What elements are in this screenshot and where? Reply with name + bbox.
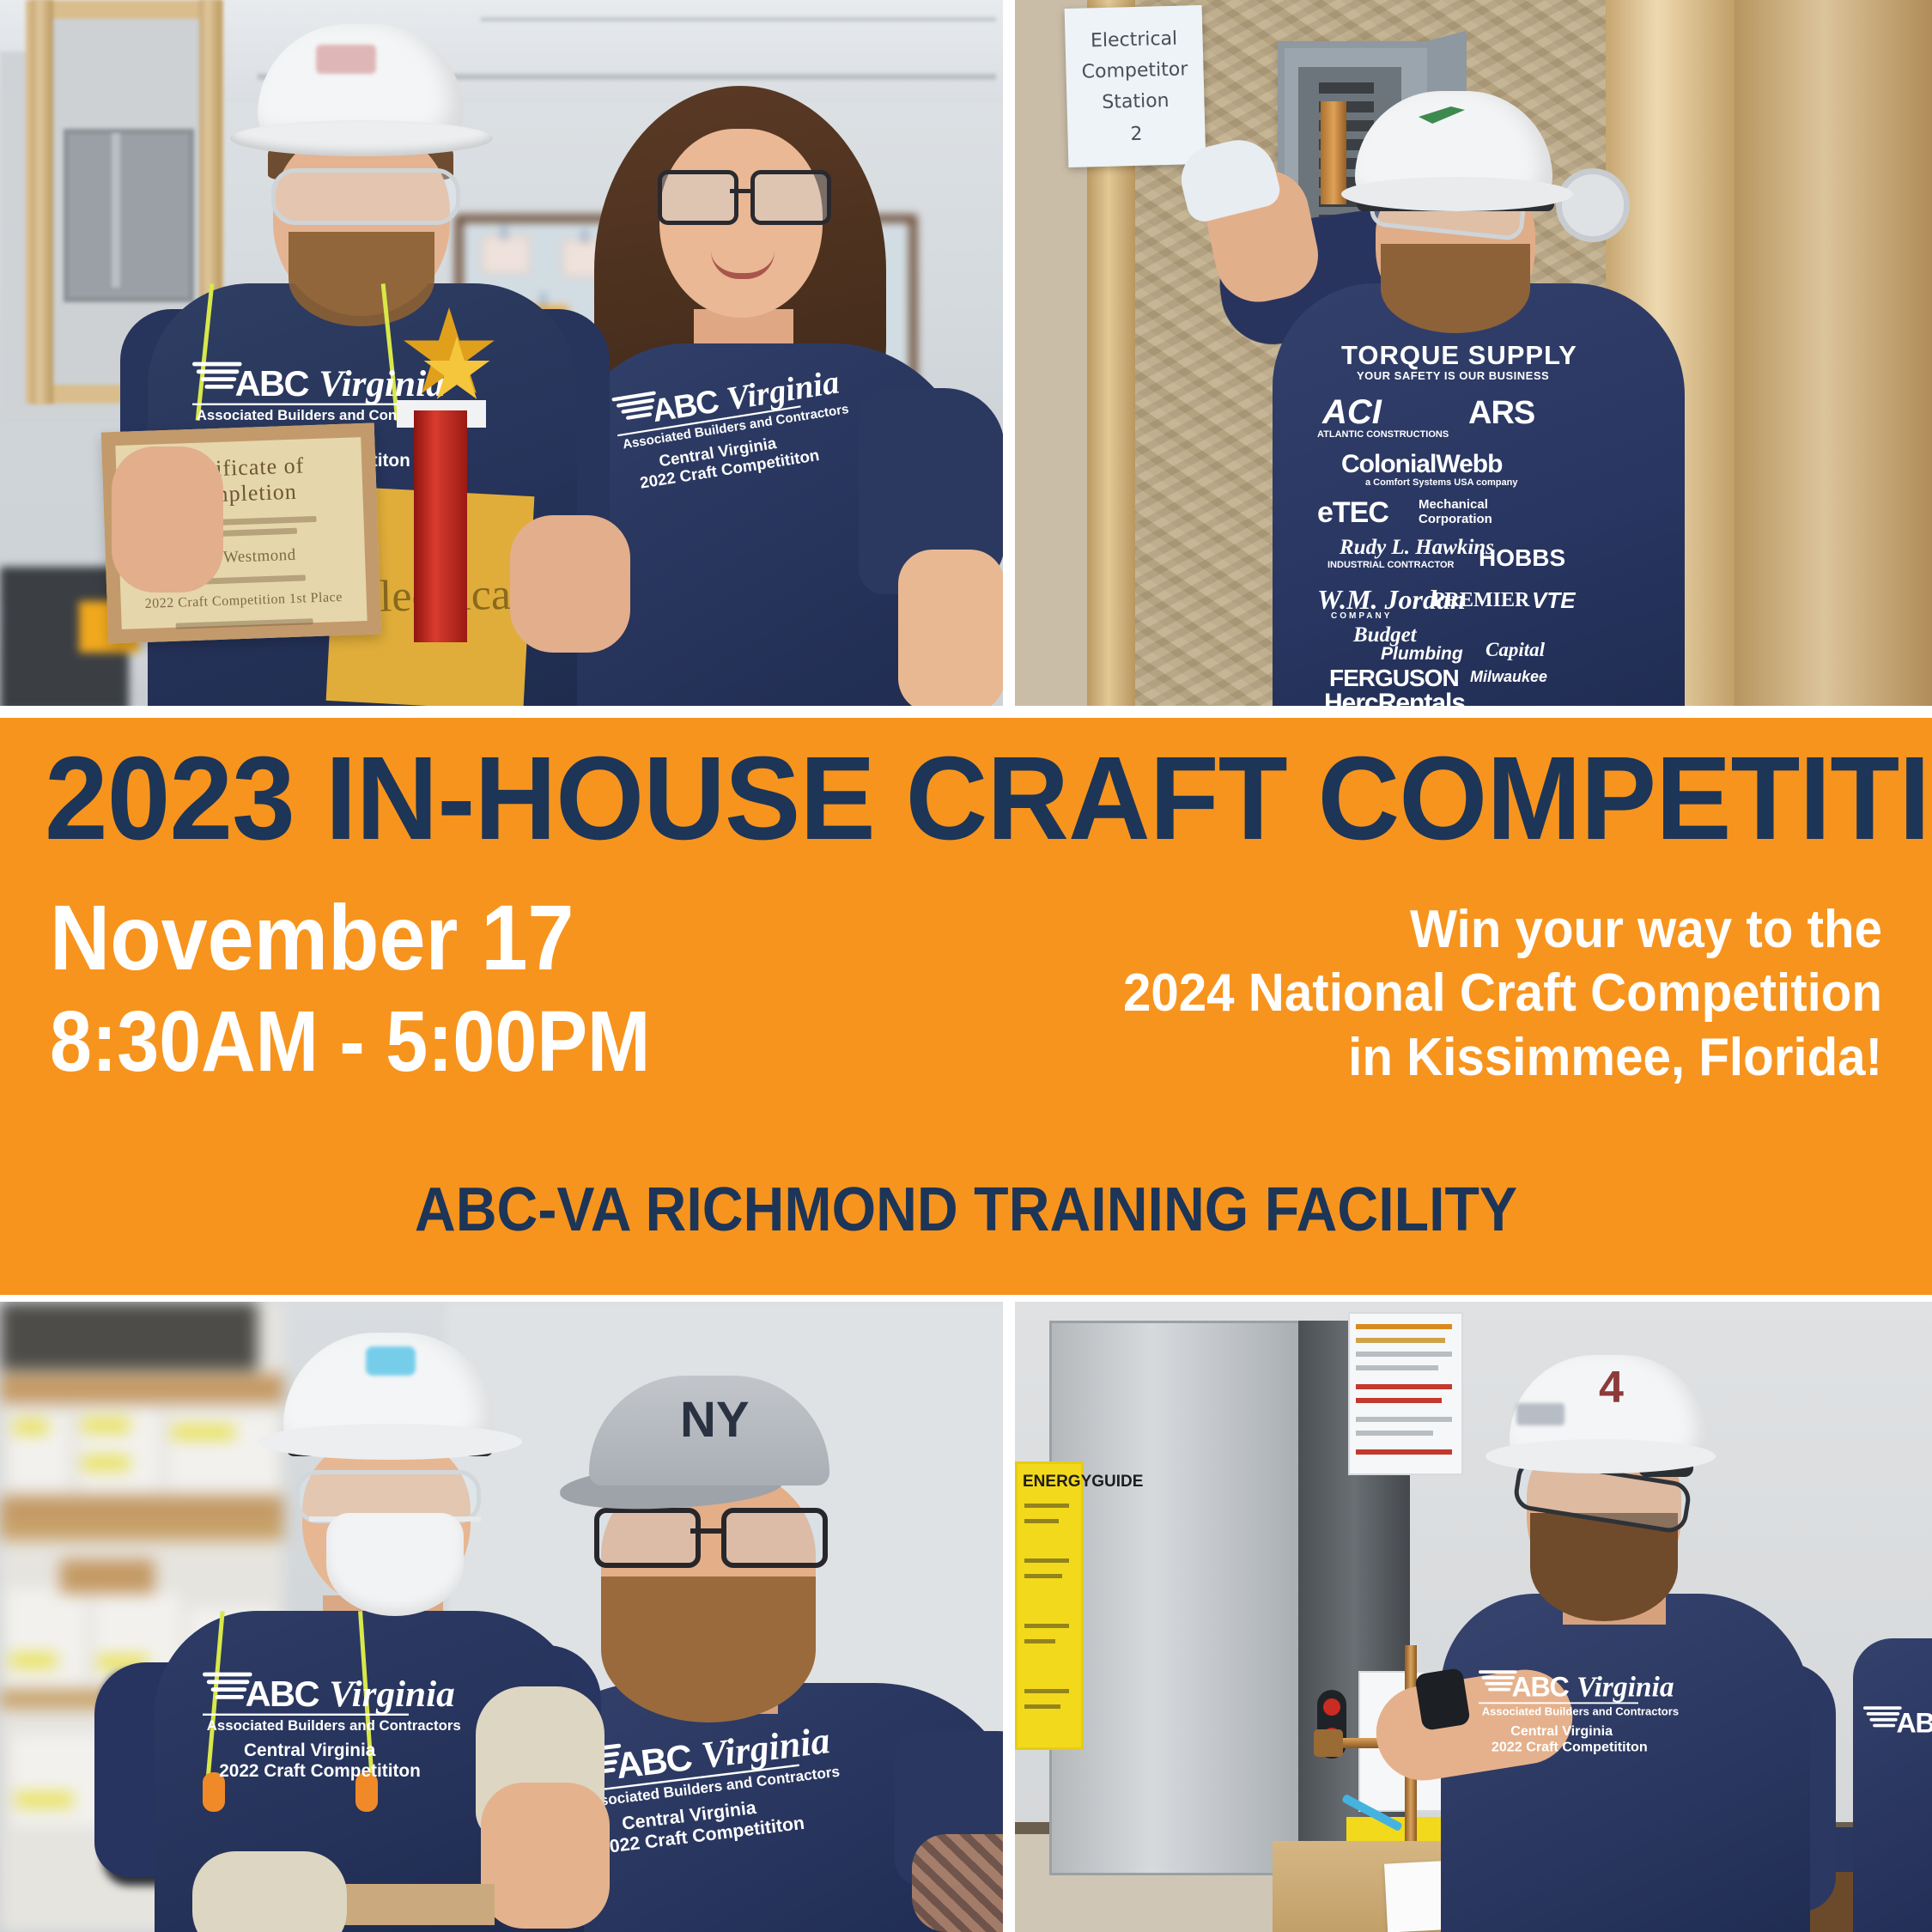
sponsor-herc-rentals: HercRentals (1324, 689, 1465, 706)
hard-hat-brim (1341, 177, 1573, 211)
page-title: 2023 IN-HOUSE CRAFT COMPETITION (45, 738, 1817, 860)
hard-hat-brim (258, 1424, 522, 1460)
electrical-box (64, 129, 194, 302)
tagline-line-3: in Kissimmee, Florida! (930, 1026, 1882, 1090)
hard-hat-decal (1516, 1403, 1564, 1425)
sponsor-budget-plumbing: Plumbing (1381, 644, 1463, 665)
event-tagline: Win your way to the 2024 National Craft … (930, 898, 1882, 1090)
shirt-line-4: 2022 Craft Competititon (219, 1760, 421, 1782)
trophy-column (414, 410, 467, 642)
air-handler-unit (1049, 1321, 1303, 1875)
bystander (1853, 1638, 1932, 1932)
judge-beard (601, 1577, 816, 1722)
event-venue: ABC-VA RICHMOND TRAINING FACILITY (77, 1175, 1855, 1245)
abc-tagline: Associated Builders and Contractors (207, 1717, 461, 1734)
wall-stud (31, 0, 53, 404)
sponsor-rudy-hawkins: Rudy L. Hawkins (1340, 536, 1494, 560)
ny-logo: NY (680, 1394, 735, 1448)
woman-eyeglasses (658, 170, 826, 216)
hard-hat-decal (366, 1346, 416, 1376)
service-valve (1314, 1729, 1343, 1757)
sponsor-etec-sub: Mechanical Corporation (1419, 498, 1513, 526)
sponsor-colonialwebb-sub: a Comfort Systems USA company (1365, 477, 1517, 488)
sign-line-1: Electrical (1065, 27, 1203, 52)
poster-root: ABC Virginia Associated Builders and Con… (0, 0, 1932, 1932)
abc-virginia-logo: ABC Virginia Associated Builders and Con… (1479, 1669, 1638, 1739)
woman-arm (898, 550, 1003, 706)
abc-virginia-logo: ABC Virginia Associated Builders and Con… (203, 1671, 409, 1767)
energyguide-label: ENERGYGUIDE (1015, 1461, 1084, 1750)
sponsor-capital: Capital (1485, 639, 1545, 661)
sponsor-aci: ACI (1322, 393, 1382, 432)
sponsor-logo-list: TORQUE SUPPLY YOUR SAFETY IS OUR BUSINES… (1317, 340, 1609, 666)
judge-tattooed-arm (912, 1834, 1003, 1932)
safety-glasses (271, 168, 460, 225)
hard-hat-number: 4 (1599, 1364, 1647, 1413)
energyguide-title: ENERGYGUIDE (1023, 1473, 1143, 1492)
photo-electrical-station: Electrical Competitor Station 2 (1015, 0, 1932, 706)
sponsor-milwaukee: Milwaukee (1470, 668, 1547, 686)
judge-eyeglasses (594, 1508, 819, 1558)
station-sign: Electrical Competitor Station 2 (1065, 5, 1206, 167)
work-glove (192, 1851, 347, 1932)
hard-hat-brim (230, 120, 493, 156)
wrist-watch (1414, 1668, 1471, 1731)
sponsor-etec: eTEC (1317, 496, 1388, 530)
warning-label (1348, 1312, 1463, 1475)
event-date: November 17 (50, 886, 574, 990)
abc-wordmark: ABC (1896, 1707, 1932, 1739)
abc-wordmark: ABC (235, 363, 308, 404)
conduit-pipe (112, 133, 120, 288)
event-time: 8:30AM - 5:00PM (50, 994, 650, 1089)
sponsor-torque-supply: TORQUE SUPPLY (1341, 340, 1577, 371)
hard-hat-brim (1485, 1439, 1716, 1473)
photo-craft-judging: NY ABC Virginia Associated Builders and … (0, 1302, 1003, 1932)
virginia-wordmark: Virginia (1577, 1670, 1674, 1703)
sponsor-colonialwebb: ColonialWebb (1341, 450, 1502, 479)
dust-mask (326, 1513, 464, 1616)
ceiling-beam-2 (481, 17, 996, 21)
sponsor-hobbs: HOBBS (1479, 544, 1565, 572)
sponsor-aci-sub: ATLANTIC CONSTRUCTIONS (1317, 429, 1449, 440)
certificate-award: 2022 Craft Competition 1st Place (137, 590, 351, 613)
sign-station-number: 2 (1067, 122, 1206, 147)
wall-stud (1735, 0, 1932, 706)
man-right-hand (510, 515, 630, 653)
abc-virginia-logo: ABC Virginia (1863, 1705, 1906, 1753)
tagline-line-2: 2024 National Craft Competition (930, 962, 1882, 1025)
sign-line-2: Competitor (1066, 58, 1204, 83)
abc-wordmark: ABC (246, 1674, 319, 1715)
photo-award-presentation: ABC Virginia Associated Builders and Con… (0, 0, 1003, 706)
abc-tagline: Associated Builders and Contractors (1482, 1705, 1679, 1718)
round-junction-box (1556, 168, 1630, 242)
sponsor-rudy-hawkins-sub: INDUSTRIAL CONTRACTOR (1327, 560, 1454, 570)
bus-bar (1321, 101, 1346, 204)
top-photo-row: ABC Virginia Associated Builders and Con… (0, 0, 1932, 706)
bottom-photo-row: NY ABC Virginia Associated Builders and … (0, 1302, 1932, 1932)
shirt-line-4: 2022 Craft Competititon (1492, 1739, 1648, 1755)
sponsor-vte: VTE (1532, 587, 1576, 614)
shirt-line-3: Central Virginia (1510, 1722, 1613, 1739)
sponsor-torque-tagline: YOUR SAFETY IS OUR BUSINESS (1357, 369, 1549, 382)
worker-beard (1381, 244, 1530, 333)
virginia-wordmark: Virginia (329, 1673, 454, 1716)
sign-line-3: Station (1066, 89, 1205, 114)
man-beard (289, 232, 434, 326)
sponsor-ars: ARS (1468, 395, 1534, 432)
photo-hvac-station: ENERGYGUIDE (1015, 1302, 1932, 1932)
event-info-band: 2023 IN-HOUSE CRAFT COMPETITION November… (0, 718, 1932, 1295)
sponsor-wm-jordan-sub: COMPANY (1331, 611, 1392, 621)
shirt-line-3: Central Virginia (244, 1740, 375, 1761)
abc-wordmark: ABC (1511, 1671, 1568, 1703)
sponsor-premier: PREMIER (1432, 589, 1529, 612)
man-left-hand (112, 447, 223, 592)
tagline-line-1: Win your way to the (930, 898, 1882, 962)
competitor-forearm (481, 1783, 610, 1929)
hard-hat-decal (316, 45, 376, 74)
